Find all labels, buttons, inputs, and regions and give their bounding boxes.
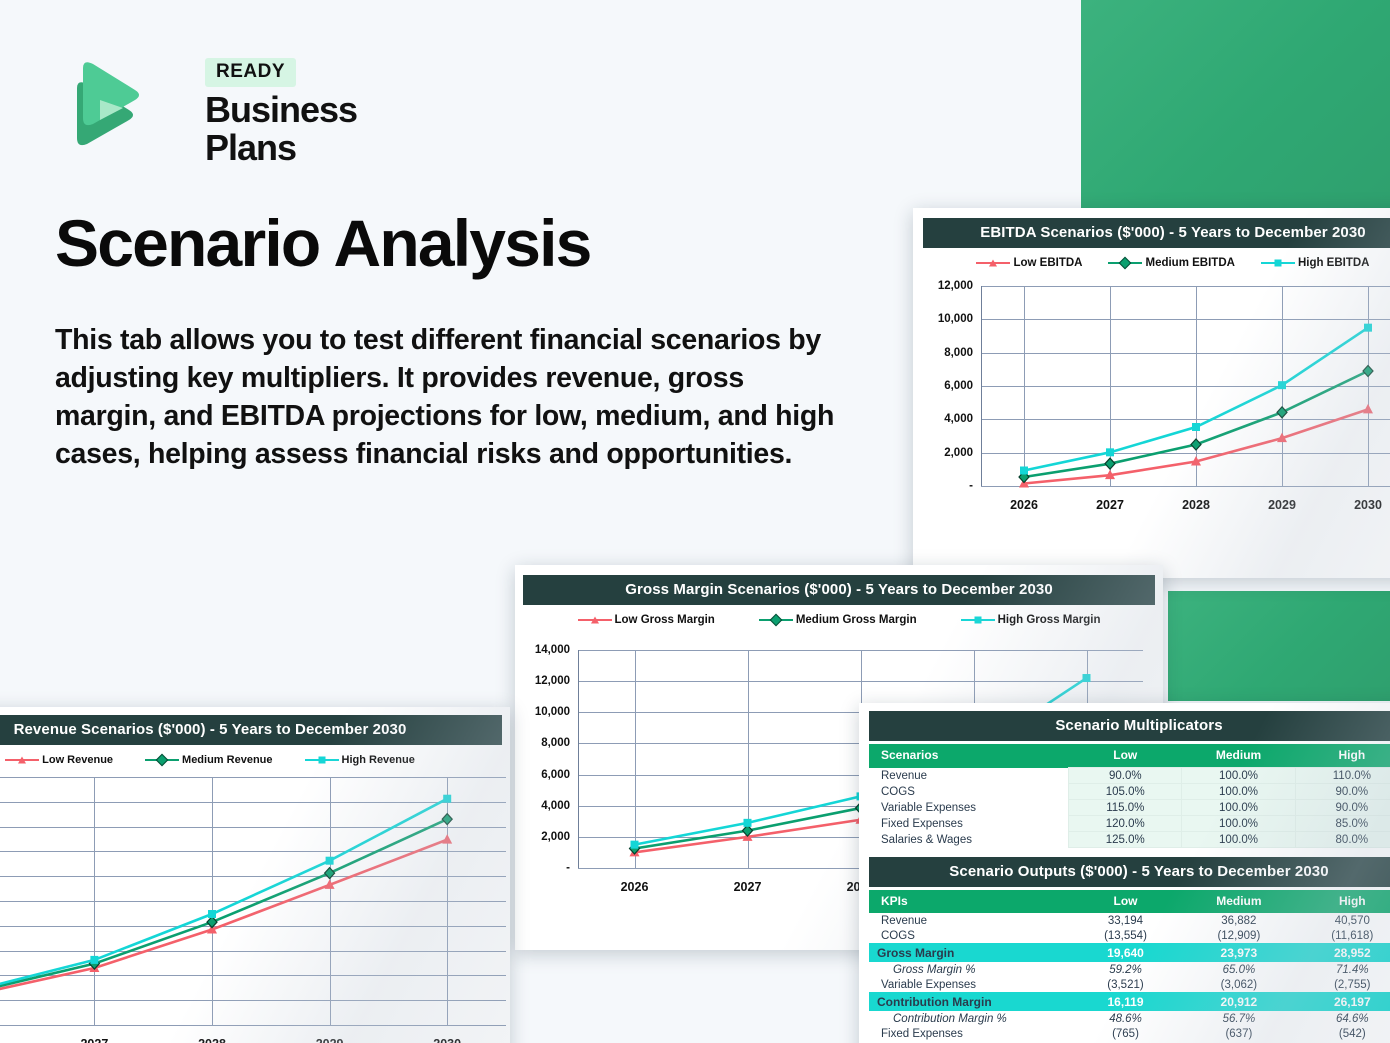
col-medium: Medium (1182, 744, 1295, 768)
cell-low: 59.2% (1069, 962, 1182, 977)
row-label: Fixed Expenses (869, 1026, 1069, 1041)
cell-low: (13,554) (1069, 928, 1182, 943)
y-axis-tick-label: 8,000 (541, 737, 570, 749)
table-row: Revenue90.0%100.0%110.0% (869, 768, 1390, 784)
cell-medium: 100.0% (1182, 784, 1295, 800)
cell-low: 90.0% (1069, 768, 1182, 784)
legend-label: Low Gross Margin (615, 614, 715, 626)
table-row: COGS105.0%100.0%90.0% (869, 784, 1390, 800)
x-axis-tick-label: 2029 (1268, 498, 1296, 512)
square-marker-icon (744, 819, 752, 827)
legend-item-low-revenue[interactable]: Low Revenue (5, 754, 113, 766)
chart-series-layer (0, 777, 506, 1025)
cell-medium: (637) (1182, 1026, 1295, 1041)
table-row: COGS(13,554)(12,909)(11,618) (869, 928, 1390, 943)
square-marker-icon (326, 857, 334, 865)
square-marker-icon (1278, 381, 1286, 389)
cell-low: 16,119 (1069, 992, 1182, 1011)
cell-high: 90.0% (1295, 800, 1390, 816)
square-marker-icon (208, 910, 216, 918)
legend-item-medium-ebitda[interactable]: Medium EBITDA (1108, 257, 1234, 269)
row-label: Contribution Margin (869, 992, 1069, 1011)
x-axis-tick-label: 2030 (433, 1037, 461, 1043)
legend-item-low-ebitda[interactable]: Low EBITDA (976, 257, 1082, 269)
y-axis-tick-label: 10,000 (535, 706, 570, 718)
series-line-high-revenue (0, 799, 447, 990)
multiplicators-title: Scenario Multiplicators (869, 711, 1390, 741)
legend-item-high-revenue[interactable]: High Revenue (305, 754, 415, 766)
col-medium: Medium (1182, 890, 1295, 913)
triangle-marker-icon (18, 757, 26, 764)
table-row: Contribution Margin16,11920,91226,197 (869, 992, 1390, 1011)
row-label: Gross Margin % (869, 962, 1069, 977)
square-marker-icon (318, 757, 325, 764)
row-label: Revenue (869, 768, 1069, 784)
cell-high: 64.6% (1296, 1011, 1390, 1026)
cell-medium: (12,909) (1182, 928, 1295, 943)
table-row: Contribution Margin %48.6%56.7%64.6% (869, 1011, 1390, 1026)
cell-low: 115.0% (1069, 800, 1182, 816)
row-label: Fixed Expenses (869, 816, 1069, 832)
table-header-row: KPIs Low Medium High (869, 890, 1390, 913)
y-axis-tick-label: 12,000 (535, 675, 570, 687)
cell-medium: (3,062) (1182, 977, 1295, 992)
col-low: Low (1069, 890, 1182, 913)
cell-high: 28,952 (1296, 943, 1390, 962)
legend-label: Medium Revenue (182, 754, 272, 766)
ready-badge: READY (205, 58, 296, 87)
cell-low: 125.0% (1069, 832, 1182, 848)
table-row: Variable Expenses115.0%100.0%90.0% (869, 800, 1390, 816)
gross-margin-chart-legend: Low Gross Margin Medium Gross Margin Hig… (515, 605, 1163, 630)
cell-high: (542) (1296, 1026, 1390, 1041)
square-marker-icon (1083, 674, 1091, 682)
diamond-marker-icon (769, 614, 782, 627)
cell-medium: 100.0% (1182, 816, 1295, 832)
play-triangle-logo-icon (55, 58, 143, 150)
col-high: High (1295, 744, 1390, 768)
cell-medium: 100.0% (1182, 832, 1295, 848)
cell-high: 90.0% (1295, 784, 1390, 800)
cell-medium: 36,882 (1182, 913, 1295, 928)
table-row: Revenue33,19436,88240,570 (869, 913, 1390, 928)
row-label: Variable Expenses (869, 800, 1069, 816)
cell-high: 110.0% (1295, 768, 1390, 784)
outputs-title: Scenario Outputs ($'000) - 5 Years to De… (869, 857, 1390, 887)
square-marker-icon (443, 795, 451, 803)
row-label: COGS (869, 928, 1069, 943)
cell-high: 26,197 (1296, 992, 1390, 1011)
table-row: Gross Margin %59.2%65.0%71.4% (869, 962, 1390, 977)
triangle-marker-icon (989, 260, 997, 267)
cell-medium: 100.0% (1182, 768, 1295, 784)
decorative-green-block-top-right (1081, 0, 1390, 209)
gridline-horizontal (0, 1025, 506, 1026)
cell-low: 120.0% (1069, 816, 1182, 832)
square-marker-icon (1364, 324, 1372, 332)
cell-high: 80.0% (1295, 832, 1390, 848)
legend-label: High Revenue (342, 754, 415, 766)
cell-medium: 56.7% (1182, 1011, 1295, 1026)
table-row: Fixed Expenses120.0%100.0%85.0% (869, 816, 1390, 832)
cell-high: 40,570 (1296, 913, 1390, 928)
brand-name: Business Plans (205, 91, 435, 167)
x-axis-tick-label: 2027 (80, 1037, 108, 1043)
cell-low: 19,640 (1069, 943, 1182, 962)
diamond-marker-icon (1277, 407, 1287, 418)
cell-high: 71.4% (1296, 962, 1390, 977)
page-description: This tab allows you to test different fi… (55, 322, 845, 474)
scenario-outputs-table: KPIs Low Medium High Revenue33,19436,882… (869, 890, 1390, 1041)
page-title: Scenario Analysis (55, 210, 591, 276)
square-marker-icon (974, 617, 981, 624)
y-axis-tick-label: 2,000 (944, 447, 973, 459)
triangle-marker-icon (591, 617, 599, 624)
cell-high: (2,755) (1296, 977, 1390, 992)
brand-logo[interactable]: READY Business Plans (55, 58, 435, 158)
revenue-chart-card: Revenue Scenarios ($'000) - 5 Years to D… (0, 707, 510, 1043)
cell-high: 85.0% (1295, 816, 1390, 832)
cell-low: 48.6% (1069, 1011, 1182, 1026)
y-axis-tick-label: - (969, 480, 973, 492)
revenue-chart-title: Revenue Scenarios ($'000) - 5 Years to D… (0, 715, 502, 745)
y-axis-tick-label: - (566, 862, 570, 874)
row-label: Contribution Margin % (869, 1011, 1069, 1026)
square-marker-icon (1192, 423, 1200, 431)
decorative-green-block-middle-right (1168, 591, 1390, 701)
row-label: Revenue (869, 913, 1069, 928)
square-marker-icon (90, 956, 98, 964)
legend-label: High Gross Margin (998, 614, 1101, 626)
table-row: Variable Expenses(3,521)(3,062)(2,755) (869, 977, 1390, 992)
legend-item-medium-revenue[interactable]: Medium Revenue (145, 754, 272, 766)
legend-label: Medium EBITDA (1145, 257, 1234, 269)
legend-label: Low Revenue (42, 754, 113, 766)
x-axis-tick-label: 2030 (1354, 498, 1382, 512)
cell-low: (765) (1069, 1026, 1182, 1041)
y-axis-tick-label: 8,000 (944, 347, 973, 359)
legend-item-high-gross-margin[interactable]: High Gross Margin (961, 614, 1101, 626)
ebitda-chart-legend: Low EBITDA Medium EBITDA High EBITDA (913, 248, 1390, 273)
revenue-plot-area: 20262027202820292030 (0, 777, 506, 1025)
x-axis-tick-label: 2028 (198, 1037, 226, 1043)
y-axis-tick-label: 6,000 (541, 769, 570, 781)
diamond-marker-icon (1119, 257, 1132, 270)
table-row: Fixed Expenses(765)(637)(542) (869, 1026, 1390, 1041)
cell-high: (11,618) (1296, 928, 1390, 943)
table-row: Salaries & Wages125.0%100.0%80.0% (869, 832, 1390, 848)
legend-label: Medium Gross Margin (796, 614, 917, 626)
legend-item-low-gross-margin[interactable]: Low Gross Margin (578, 614, 715, 626)
diamond-marker-icon (325, 868, 335, 879)
cell-medium: 23,973 (1182, 943, 1295, 962)
x-axis-tick-label: 2027 (1096, 498, 1124, 512)
legend-label: High EBITDA (1298, 257, 1370, 269)
ebitda-plot-area: 12,00010,0008,0006,0004,0002,000-2026202… (981, 286, 1390, 486)
x-axis-tick-label: 2029 (316, 1037, 344, 1043)
cell-low: (3,521) (1069, 977, 1182, 992)
cell-low: 105.0% (1069, 784, 1182, 800)
square-marker-icon (1020, 467, 1028, 475)
slide-canvas: READY Business Plans Scenario Analysis T… (0, 0, 1390, 1043)
row-label: Variable Expenses (869, 977, 1069, 992)
table-header-row: Scenarios Low Medium High (869, 744, 1390, 768)
diamond-marker-icon (156, 754, 169, 767)
row-label: COGS (869, 784, 1069, 800)
x-axis-tick-label: 2026 (621, 880, 649, 894)
col-low: Low (1069, 744, 1182, 768)
chart-series-layer (981, 286, 1390, 486)
x-axis-tick-label: 2027 (734, 880, 762, 894)
triangle-marker-icon (1363, 404, 1373, 414)
cell-medium: 100.0% (1182, 800, 1295, 816)
revenue-chart-legend: Low Revenue Medium Revenue High Revenue (0, 745, 510, 770)
scenario-tables-card: Scenario Multiplicators Scenarios Low Me… (859, 703, 1390, 1043)
scenario-multiplicators-table: Scenarios Low Medium High Revenue90.0%10… (869, 744, 1390, 848)
col-kpis: KPIs (869, 890, 1069, 913)
triangle-marker-icon (442, 834, 452, 844)
ebitda-chart-card: EBITDA Scenarios ($'000) - 5 Years to De… (913, 208, 1390, 578)
row-label: Salaries & Wages (869, 832, 1069, 848)
diamond-marker-icon (1191, 439, 1201, 450)
diamond-marker-icon (207, 917, 217, 928)
y-axis-tick-label: 2,000 (541, 831, 570, 843)
gross-margin-chart-title: Gross Margin Scenarios ($'000) - 5 Years… (523, 575, 1155, 605)
square-marker-icon (631, 841, 639, 849)
col-scenarios: Scenarios (869, 744, 1069, 768)
y-axis-tick-label: 6,000 (944, 380, 973, 392)
x-axis-tick-label: 2026 (1010, 498, 1038, 512)
square-marker-icon (1106, 448, 1114, 456)
diamond-marker-icon (442, 814, 452, 825)
diamond-marker-icon (1105, 458, 1115, 469)
legend-item-high-ebitda[interactable]: High EBITDA (1261, 257, 1370, 269)
gridline-horizontal (981, 486, 1390, 487)
row-label: Gross Margin (869, 943, 1069, 962)
cell-low: 33,194 (1069, 913, 1182, 928)
y-axis-tick-label: 4,000 (541, 800, 570, 812)
square-marker-icon (1274, 260, 1281, 267)
legend-label: Low EBITDA (1013, 257, 1082, 269)
cell-medium: 20,912 (1182, 992, 1295, 1011)
x-axis-tick-label: 2028 (1182, 498, 1210, 512)
col-high: High (1296, 890, 1390, 913)
y-axis-tick-label: 10,000 (938, 313, 973, 325)
ebitda-chart-title: EBITDA Scenarios ($'000) - 5 Years to De… (923, 218, 1390, 248)
y-axis-tick-label: 4,000 (944, 413, 973, 425)
y-axis-tick-label: 14,000 (535, 644, 570, 656)
y-axis-tick-label: 12,000 (938, 280, 973, 292)
table-row: Gross Margin19,64023,97328,952 (869, 943, 1390, 962)
legend-item-medium-gross-margin[interactable]: Medium Gross Margin (759, 614, 917, 626)
diamond-marker-icon (1363, 366, 1373, 377)
cell-medium: 65.0% (1182, 962, 1295, 977)
